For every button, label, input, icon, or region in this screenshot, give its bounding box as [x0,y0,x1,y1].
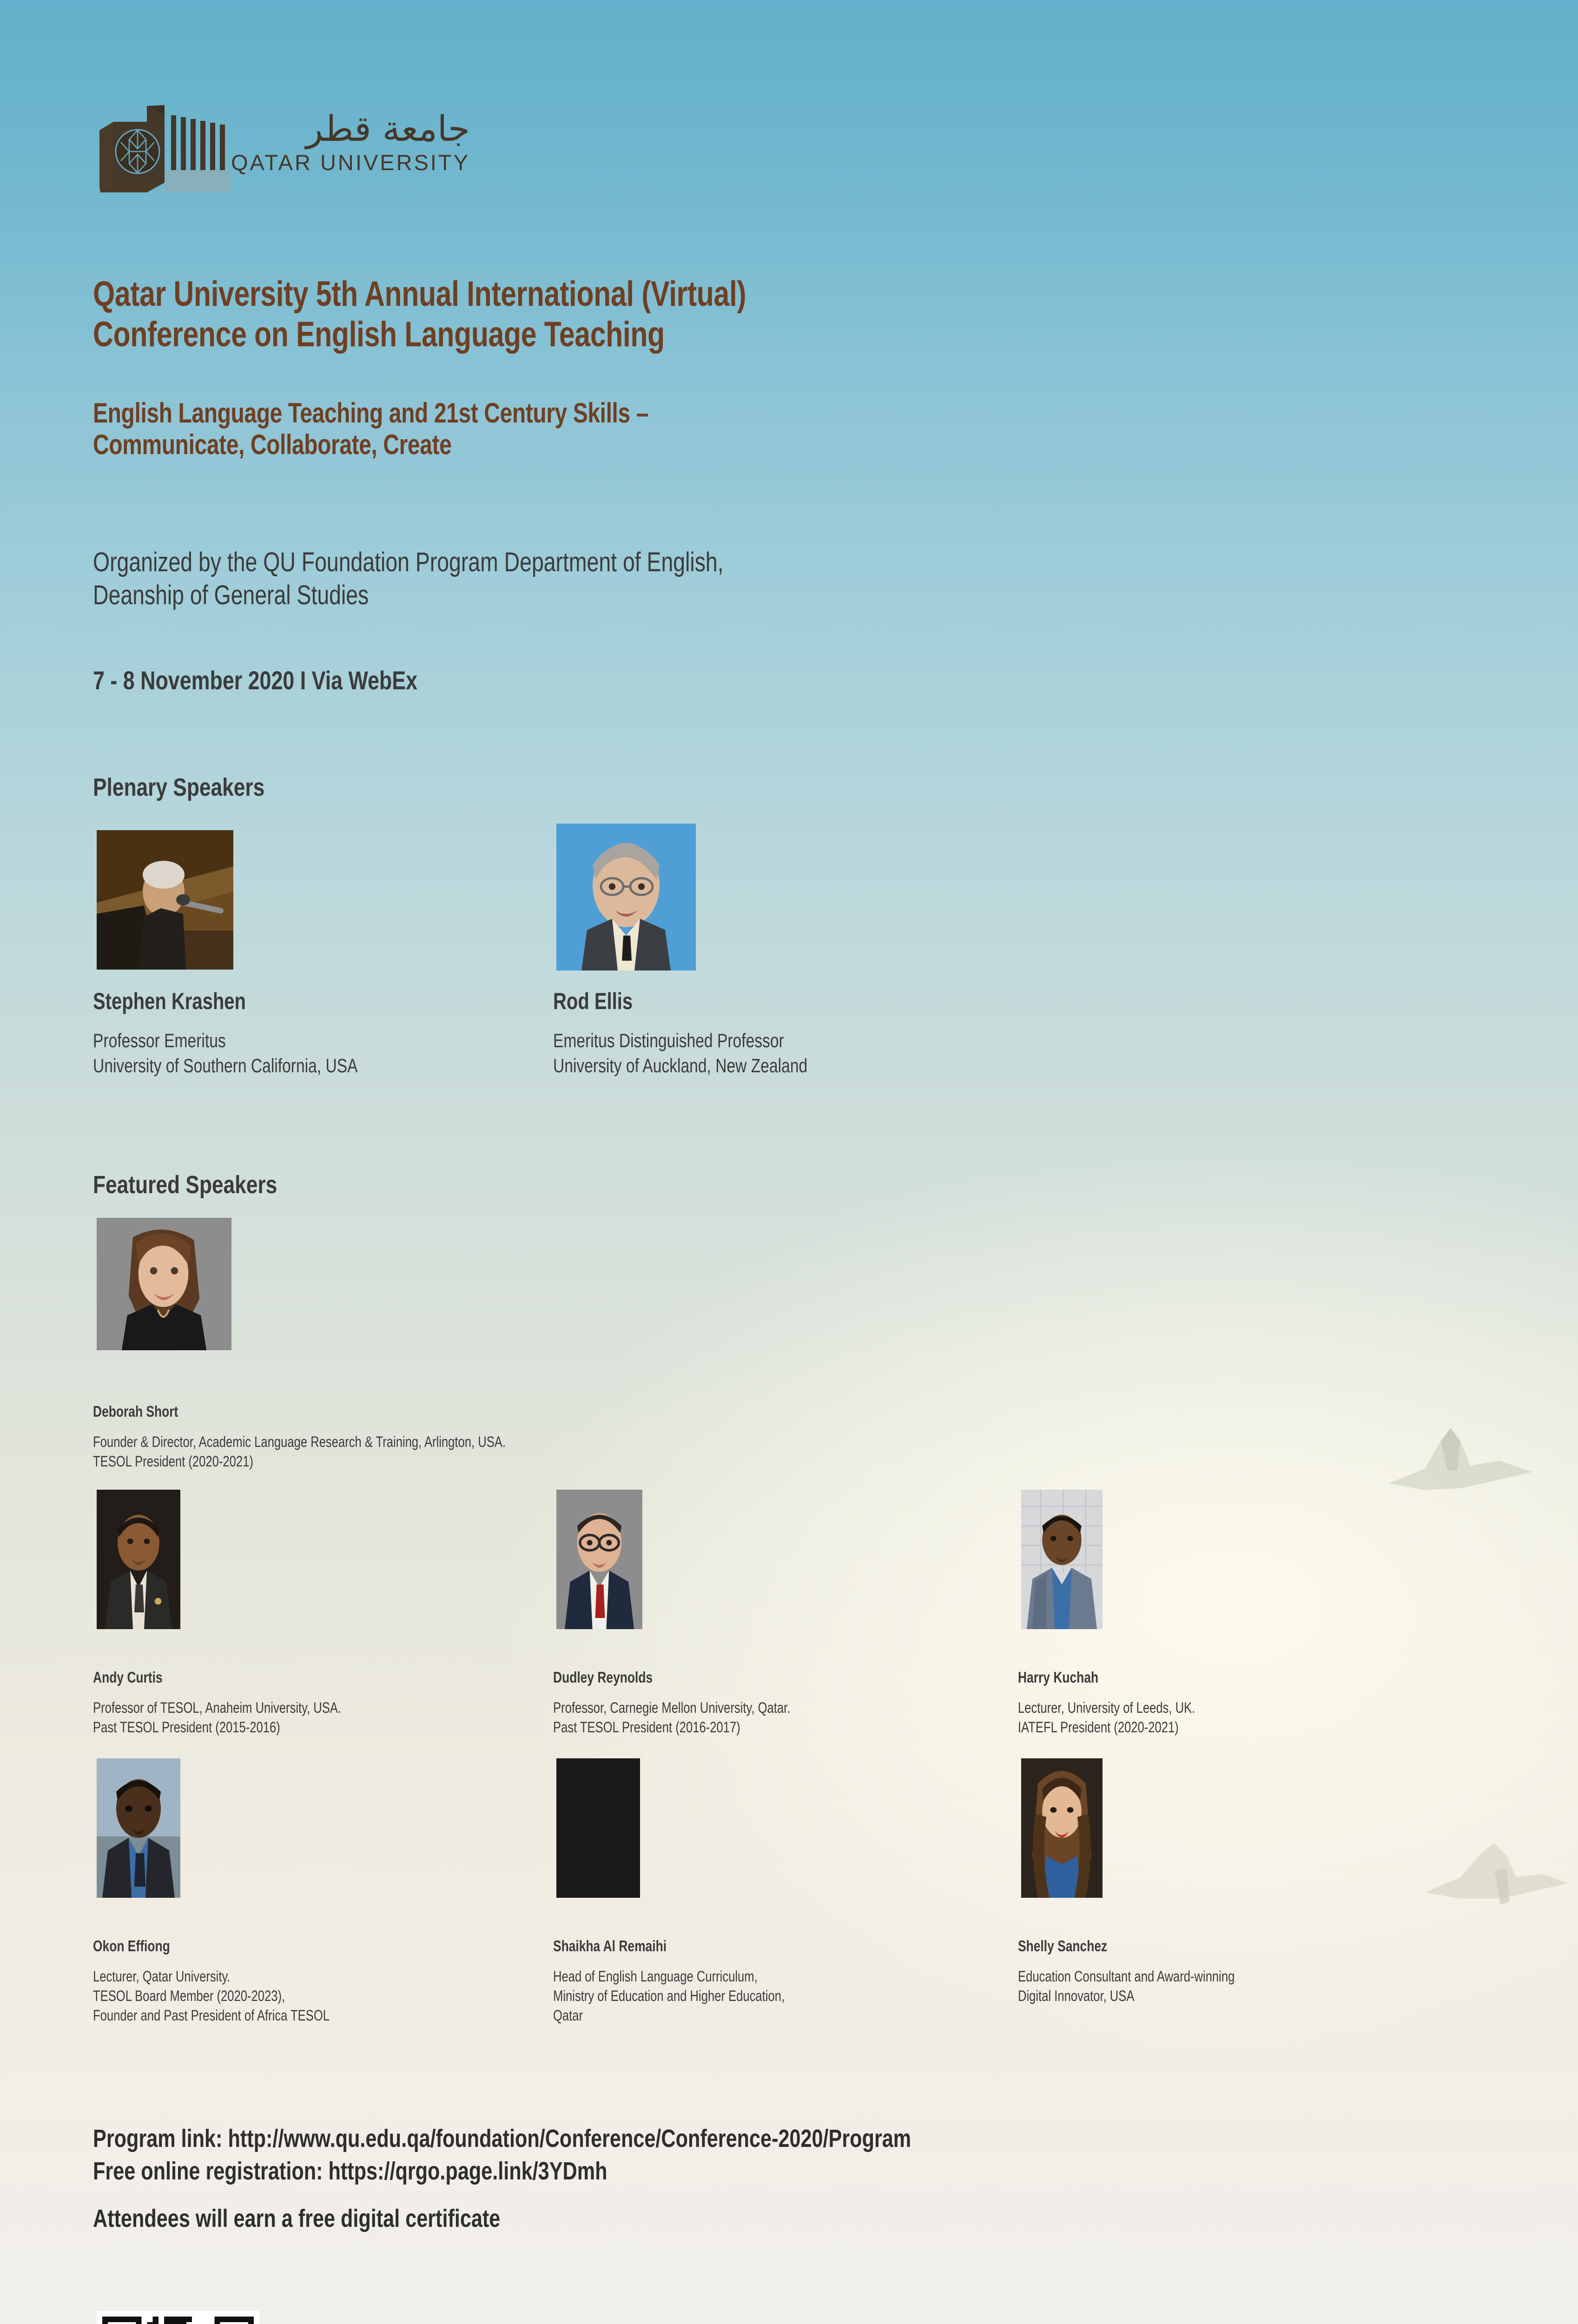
featured-speakers-heading: Featured Speakers [93,1170,277,1199]
certificate-note: Attendees will earn a free digital certi… [93,2202,1320,2235]
date-venue-text: 7 - 8 November 2020 I Via WebEx [93,665,1171,696]
speaker-name: Shaikha Al Remaihi [553,1936,999,1956]
logo-latin-text: QATAR UNIVERSITY [231,150,470,175]
qatar-university-logo: جامعة قطر QATAR UNIVERSITY [91,101,472,194]
speaker-info-dudley-reynolds: Dudley Reynolds Professor, Carnegie Mell… [553,1658,999,1737]
speaker-photo-shaikha-al-remaihi [556,1758,640,1898]
speaker-info-andy-curtis: Andy Curtis Professor of TESOL, Anaheim … [93,1658,539,1737]
speaker-info-harry-kuchah: Harry Kuchah Lecturer, University of Lee… [1018,1658,1464,1737]
speaker-info-deborah-short: Deborah Short Founder & Director, Academ… [93,1392,762,1472]
speaker-info-stephen-krashen: Stephen Krashen Professor Emeritus Unive… [93,977,539,1079]
speaker-name: Stephen Krashen [93,986,539,1017]
speaker-name: Okon Effiong [93,1936,539,1956]
qu-building-mark [99,105,231,192]
speaker-photo-shelly-sanchez [1021,1758,1103,1898]
speaker-affiliation: Professor of TESOL, Anaheim University, … [93,1699,341,1736]
speaker-info-okon-effiong: Okon Effiong Lecturer, Qatar University.… [93,1927,539,2025]
speaker-photo-andy-curtis [97,1490,180,1629]
speaker-affiliation: Emeritus Distinguished Professor Univers… [553,1030,807,1077]
speaker-affiliation: Lecturer, University of Leeds, UK. IATEF… [1018,1699,1195,1736]
qr-code[interactable] [97,2311,259,2324]
speaker-name: Dudley Reynolds [553,1668,999,1688]
logo-arabic-text: جامعة قطر [304,108,470,150]
speaker-photo-stephen-krashen [97,830,233,970]
speaker-name: Harry Kuchah [1018,1668,1464,1688]
speaker-affiliation: Head of English Language Curriculum, Min… [553,1968,785,2023]
speaker-affiliation: Lecturer, Qatar University. TESOL Board … [93,1968,330,2023]
speaker-info-shelly-sanchez: Shelly Sanchez Education Consultant and … [1018,1927,1464,2006]
speaker-photo-rod-ellis [556,824,696,971]
page-subtitle: English Language Teaching and 21st Centu… [93,397,1134,461]
speaker-affiliation: Professor Emeritus University of Souther… [93,1030,358,1077]
speaker-name: Rod Ellis [553,986,1074,1017]
speaker-photo-okon-effiong [97,1758,180,1898]
speaker-name: Shelly Sanchez [1018,1936,1464,1956]
organizer-text: Organized by the QU Foundation Program D… [93,546,1171,612]
speaker-name: Andy Curtis [93,1668,539,1688]
speaker-affiliation: Education Consultant and Award-winning D… [1018,1968,1235,2004]
plenary-speakers-heading: Plenary Speakers [93,773,264,802]
speaker-photo-deborah-short [97,1218,231,1350]
speaker-photo-harry-kuchah [1021,1490,1103,1629]
speaker-info-shaikha-al-remaihi: Shaikha Al Remaihi Head of English Langu… [553,1927,999,2025]
page-title: Qatar University 5th Annual Internationa… [93,274,1134,355]
program-and-registration-links[interactable]: Program link: http://www.qu.edu.qa/found… [93,2122,1320,2187]
speaker-photo-dudley-reynolds [556,1490,642,1629]
speaker-info-rod-ellis: Rod Ellis Emeritus Distinguished Profess… [553,977,1074,1079]
speaker-affiliation: Founder & Director, Academic Language Re… [93,1433,506,1470]
speaker-name: Deborah Short [93,1402,762,1422]
speaker-affiliation: Professor, Carnegie Mellon University, Q… [553,1699,790,1736]
